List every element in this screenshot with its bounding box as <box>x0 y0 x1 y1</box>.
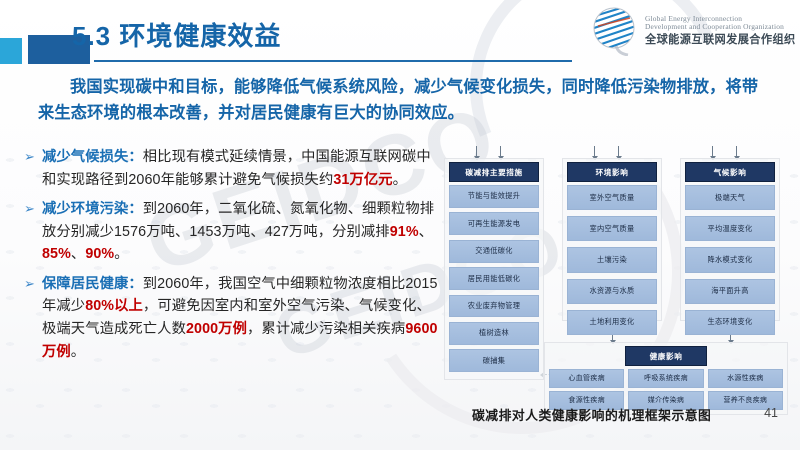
diagram-node: 生态环境变化 <box>685 310 775 335</box>
diagram-column-header: 环境影响 <box>567 162 657 182</box>
bullet-lead-label: 减少环境污染： <box>42 201 143 217</box>
diagram-column-3: 气候影响极端天气平均温度变化降水模式变化海平面升高生态环境变化 <box>680 158 780 321</box>
bullet-item-3: ➢保障居民健康：到2060年，我国空气中细颗粒物浓度相比2015年减少80%以上… <box>22 273 440 363</box>
slide-canvas: GEIDCO GEIDCO 5.3 环境健康效益 <box>0 0 800 450</box>
diagram-node: 室内空气质量 <box>567 216 657 241</box>
diagram-column-2: 环境影响室外空气质量室内空气质量土壤污染水资源与水质土地利用变化 <box>562 158 662 321</box>
organization-logo: Global Energy Interconnection Developmen… <box>592 6 796 56</box>
title-underline <box>94 60 572 62</box>
bullet-list: ➢减少气候损失：相比现有模式延续情景，中国能源互联网碳中和实现路径到2060年能… <box>22 146 440 370</box>
bullet-text: ，累计减少污染相关疾病 <box>247 321 405 337</box>
diagram-node: 室外空气质量 <box>567 185 657 210</box>
header-accent-square-light <box>0 38 22 64</box>
bullet-lead-label: 保障居民健康： <box>42 276 143 292</box>
bullet-highlight-value: 85% <box>42 246 71 262</box>
diagram-node: 土地利用变化 <box>567 310 657 335</box>
bullet-arrow-icon: ➢ <box>24 199 35 220</box>
diagram-node: 海平面升高 <box>685 279 775 304</box>
bullet-text: 。 <box>393 172 407 188</box>
bullet-item-1: ➢减少气候损失：相比现有模式延续情景，中国能源互联网碳中和实现路径到2060年能… <box>22 146 440 191</box>
globe-icon <box>592 6 638 56</box>
diagram-node: 可再生能源发电 <box>449 212 539 235</box>
bullet-text: 、 <box>71 246 85 262</box>
bullet-highlight-value: 2000万例 <box>186 321 247 337</box>
diagram-column-header: 碳减排主要措施 <box>449 162 539 182</box>
diagram-node: 平均温度变化 <box>685 216 775 241</box>
diagram-health-header: 健康影响 <box>625 346 707 366</box>
diagram-node: 节能与能效提升 <box>449 185 539 208</box>
diagram-health-node: 呼吸系统疾病 <box>628 369 703 388</box>
connector-col2-b <box>618 146 619 156</box>
page-number: 41 <box>764 406 778 420</box>
bullet-text: 、 <box>419 224 433 240</box>
diagram-node: 降水模式变化 <box>685 247 775 272</box>
connector-col1-b <box>500 146 501 156</box>
diagram-node: 居民用能低碳化 <box>449 267 539 290</box>
diagram-node: 水资源与水质 <box>567 279 657 304</box>
logo-text-block: Global Energy Interconnection Developmen… <box>645 15 796 48</box>
intro-paragraph: 我国实现碳中和目标，能够降低气候系统风险，减少气候变化损失，同时降低污染物排放，… <box>38 74 766 126</box>
diagram-node: 土壤污染 <box>567 247 657 272</box>
diagram-node: 碳捕集 <box>449 349 539 372</box>
diagram-health-block: 健康影响心血管疾病呼吸系统疾病水源性疾病食源性疾病媒介传染病营养不良疾病 <box>544 342 788 415</box>
bullet-text: 。 <box>114 246 128 262</box>
slide-header: 5.3 环境健康效益 <box>0 0 800 66</box>
bullet-arrow-icon: ➢ <box>24 147 35 168</box>
diagram-node: 植树造林 <box>449 322 539 345</box>
diagram-health-grid: 心血管疾病呼吸系统疾病水源性疾病食源性疾病媒介传染病营养不良疾病 <box>549 369 783 410</box>
bullet-highlight-value: 90% <box>85 246 114 262</box>
bullet-highlight-value: 91% <box>390 224 419 240</box>
diagram-column-header: 气候影响 <box>685 162 775 182</box>
bullet-text: 。 <box>71 344 85 360</box>
connector-col2-a <box>594 146 595 156</box>
diagram-health-node: 水源性疾病 <box>708 369 783 388</box>
bullet-lead-label: 减少气候损失： <box>42 149 143 165</box>
logo-en-line2: Development and Cooperation Organization <box>645 23 796 32</box>
diagram-node: 极端天气 <box>685 185 775 210</box>
bullet-item-2: ➢减少环境污染：到2060年，二氧化硫、氮氧化物、细颗粒物排放分别减少1576万… <box>22 198 440 266</box>
diagram-node: 交通低碳化 <box>449 240 539 263</box>
bullet-highlight-value: 31万亿元 <box>333 172 392 188</box>
connector-col3-a <box>712 146 713 156</box>
page-title: 5.3 环境健康效益 <box>72 16 281 53</box>
diagram-health-node: 心血管疾病 <box>549 369 624 388</box>
bullet-arrow-icon: ➢ <box>24 274 35 295</box>
diagram-caption: 碳减排对人类健康影响的机理框架示意图 <box>472 405 711 424</box>
bullet-highlight-value: 80%以上 <box>85 298 143 314</box>
connector-col3-b <box>736 146 737 156</box>
logo-cn-name: 全球能源互联网发展合作组织 <box>645 34 796 47</box>
connector-col1-a <box>476 146 477 156</box>
diagram-column-1: 碳减排主要措施节能与能效提升可再生能源发电交通低碳化居民用能低碳化农业废弃物管理… <box>444 158 544 380</box>
diagram-node: 农业废弃物管理 <box>449 295 539 318</box>
mechanism-framework-diagram: 碳减排主要措施节能与能效提升可再生能源发电交通低碳化居民用能低碳化农业废弃物管理… <box>440 158 792 396</box>
